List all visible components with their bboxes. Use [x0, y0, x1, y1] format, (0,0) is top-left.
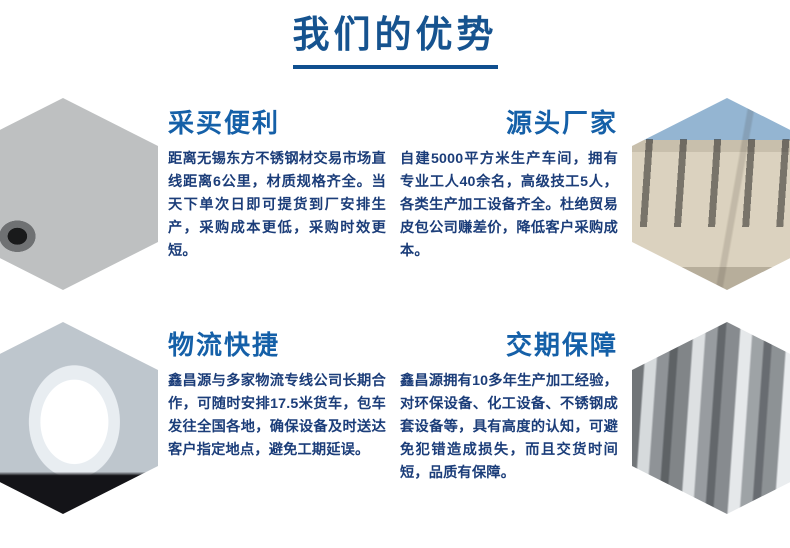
page-title: 我们的优势 [0, 14, 790, 57]
delivery-truck-photo [0, 322, 158, 514]
steel-coils-photo [0, 98, 158, 290]
advantage-body-source-factory: 自建5000平方米生产车间，拥有专业工人40余名，高级技工5人，各类生产加工设备… [400, 148, 618, 263]
advantage-heading-procurement: 采买便利 [168, 108, 386, 139]
advantage-body-procurement: 距离无锡东方不锈钢材交易市场直线距离6公里，材质规格齐全。当天下单次日即可提货到… [168, 148, 386, 263]
advantage-block-source-factory: 源头厂家 自建5000平方米生产车间，拥有专业工人40余名，高级技工5人，各类生… [400, 108, 618, 263]
page-title-block: 我们的优势 [0, 14, 790, 69]
delivery-truck-photo-image [0, 322, 158, 514]
advantage-heading-delivery-guarantee: 交期保障 [400, 330, 618, 361]
advantage-body-delivery-guarantee: 鑫昌源拥有10多年生产加工经验，对环保设备、化工设备、不锈钢成套设备等，具有高度… [400, 370, 618, 485]
factory-building-photo-image [632, 98, 790, 290]
advantages-page: { "header": { "title": "我们的优势", "rule_co… [0, 0, 790, 548]
stainless-tanks-photo [632, 322, 790, 514]
advantage-body-logistics: 鑫昌源与多家物流专线公司长期合作，可随时安排17.5米货车，包车发往全国各地，确… [168, 370, 386, 462]
advantage-block-procurement: 采买便利 距离无锡东方不锈钢材交易市场直线距离6公里，材质规格齐全。当天下单次日… [168, 108, 386, 263]
advantage-block-logistics: 物流快捷 鑫昌源与多家物流专线公司长期合作，可随时安排17.5米货车，包车发往全… [168, 330, 386, 462]
steel-coils-photo-image [0, 98, 158, 290]
advantage-heading-source-factory: 源头厂家 [400, 108, 618, 139]
title-underline-rule [293, 65, 498, 69]
stainless-tanks-photo-image [632, 322, 790, 514]
factory-building-photo [632, 98, 790, 290]
advantage-heading-logistics: 物流快捷 [168, 330, 386, 361]
advantage-block-delivery-guarantee: 交期保障 鑫昌源拥有10多年生产加工经验，对环保设备、化工设备、不锈钢成套设备等… [400, 330, 618, 485]
